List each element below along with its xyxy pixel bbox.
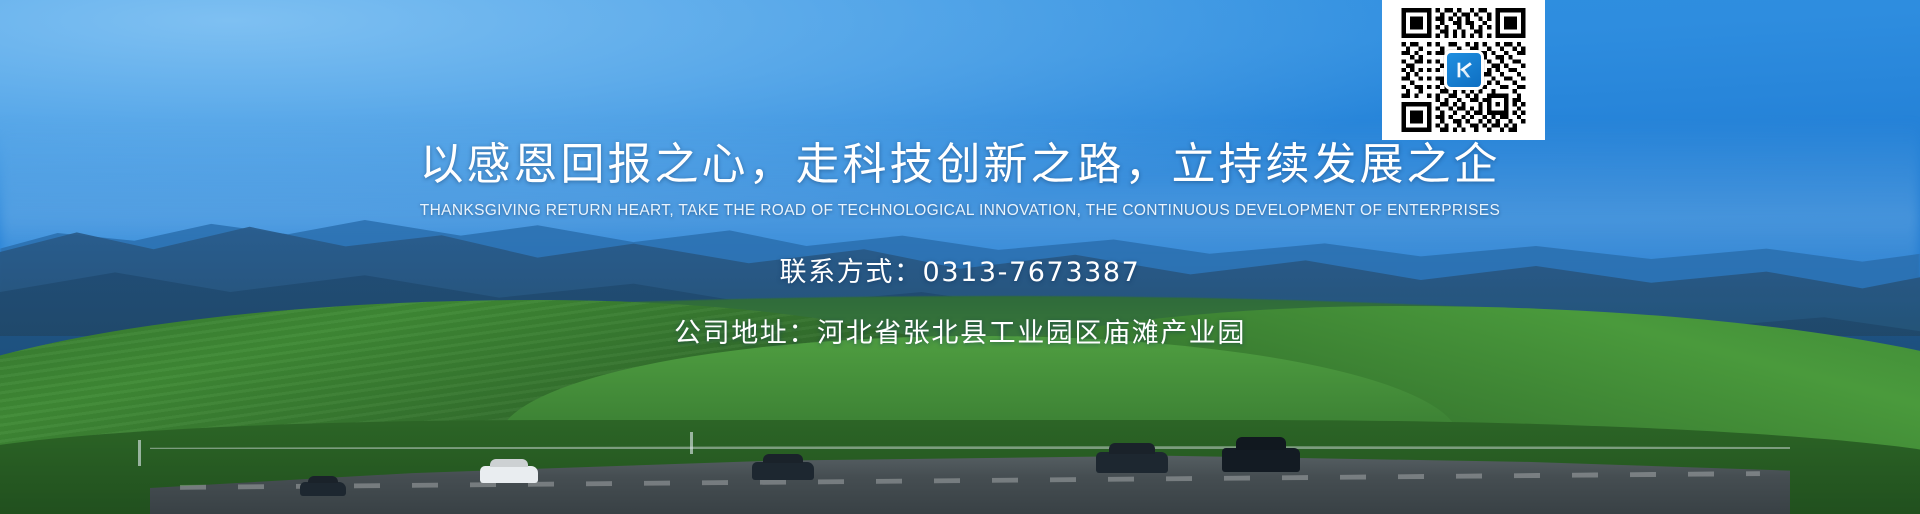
hero-banner: 以感恩回报之心，走科技创新之路，立持续发展之企 THANKSGIVING RET… [0,0,1920,514]
qr-code[interactable] [1382,0,1545,140]
roadside-post-mid [690,432,693,454]
roadside-post-left [138,440,141,466]
suv-right [1222,448,1300,472]
company-logo-icon [1444,50,1484,90]
car-dark-center [752,462,814,480]
car-white-left [480,466,538,483]
car-far-left [300,482,346,496]
car-dark-right [1096,452,1168,473]
